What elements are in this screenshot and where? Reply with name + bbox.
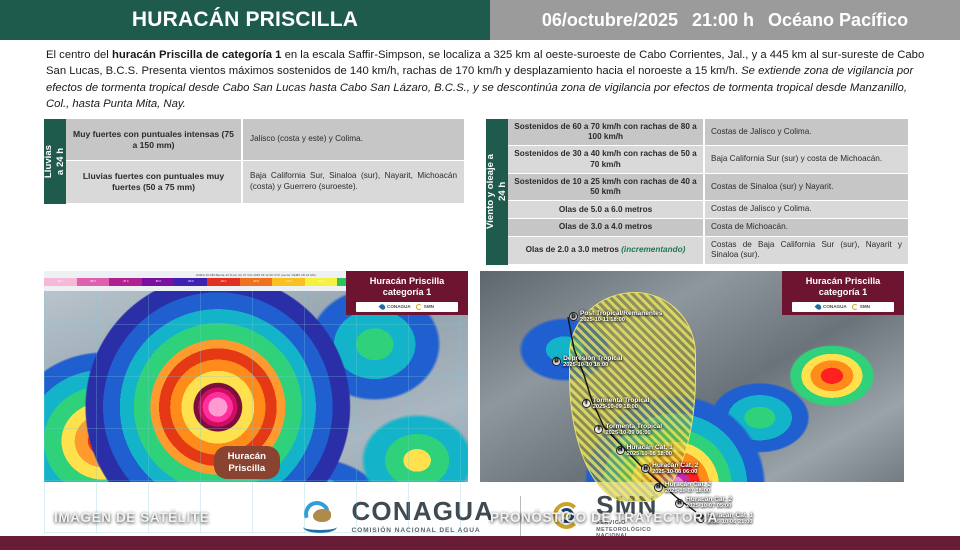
table-row: Olas de 5.0 a 6.0 metros Costas de Jalis… bbox=[508, 201, 908, 219]
water-drop-icon bbox=[379, 303, 387, 311]
badge-logos: CONAGUA SMN bbox=[356, 302, 458, 312]
rain-areas: Jalisco (costa y este) y Colima. bbox=[242, 119, 464, 161]
wave-areas: Costa de Michoacán. bbox=[704, 219, 908, 237]
trajectory-point-label: TTormenta Tropical2025-10-09 18:00 bbox=[582, 397, 650, 410]
trajectory-point-text: Depresión Tropical2025-10-10 18:00 bbox=[563, 355, 622, 368]
wave-condition-note: (incrementando) bbox=[621, 245, 685, 254]
table-row: Muy fuertes con puntuales intensas (75 a… bbox=[66, 119, 464, 161]
badge-line2: categoría 1 bbox=[792, 287, 894, 298]
rain-side-text: Lluvias a 24 h bbox=[43, 145, 67, 178]
table-row: Lluvias fuertes con puntuales muy fuerte… bbox=[66, 161, 464, 203]
satellite-caption: IMAGEN DE SATÉLITE bbox=[54, 510, 209, 525]
wind-areas: Baja California Sur (sur) y costa de Mic… bbox=[704, 146, 908, 174]
smn-mini-logo: SMN bbox=[852, 304, 870, 310]
storm-category-marker-icon: H bbox=[654, 483, 663, 492]
trajectory-point-text: Tormenta Tropical2025-10-09 06:00 bbox=[605, 423, 662, 436]
storm-category-marker-icon: T bbox=[582, 399, 591, 408]
trajectory-point-label: HHuracán Cat. 12025-10-08 18:00 bbox=[616, 444, 673, 457]
callout-line1: Huracán bbox=[228, 451, 266, 462]
table-row: Sostenidos de 10 a 25 km/h con rachas de… bbox=[508, 173, 908, 201]
colorbar-tick: -10 C bbox=[305, 278, 338, 286]
rain-areas: Baja California Sur, Sinaloa (sur), Naya… bbox=[242, 161, 464, 203]
badge-logos: CONAGUA SMN bbox=[792, 302, 894, 312]
wind-condition: Sostenidos de 30 a 40 km/h con rachas de… bbox=[508, 146, 704, 174]
colorbar-tick: -70 C bbox=[109, 278, 142, 286]
colorbar-tick: -20 C bbox=[272, 278, 305, 286]
wave-condition: Olas de 3.0 a 4.0 metros bbox=[508, 219, 704, 237]
bulletin-page: HURACÁN PRISCILLA 06/octubre/2025 21:00 … bbox=[0, 0, 960, 550]
storm-category-marker-icon: H bbox=[616, 446, 625, 455]
wind-condition: Sostenidos de 10 a 25 km/h con rachas de… bbox=[508, 173, 704, 201]
trajectory-point-text: Huracán Cat. 22025-10-07 05:00 bbox=[686, 496, 732, 509]
colorbar-tick: -80 C bbox=[77, 278, 110, 286]
table-row: Olas de 3.0 a 4.0 metros Costa de Michoa… bbox=[508, 219, 908, 237]
wave-condition: Olas de 2.0 a 3.0 metros (incrementando) bbox=[508, 236, 704, 264]
header-meta: 06/octubre/2025 21:00 h Océano Pacífico bbox=[490, 0, 960, 40]
page-title: HURACÁN PRISCILLA bbox=[0, 0, 490, 40]
colorbar-tick: -40 C bbox=[207, 278, 240, 286]
rain-table-wrap: Lluvias a 24 h Muy fuertes con puntuales… bbox=[44, 119, 464, 204]
storm-category-marker-icon: H bbox=[675, 499, 684, 508]
wind-table: Sostenidos de 60 a 70 km/h con rachas de… bbox=[508, 119, 908, 265]
image-panels: Huracán Priscilla GOES-19 ABI Banda 13 T… bbox=[0, 271, 960, 533]
bulletin-date: 06/octubre/2025 bbox=[542, 10, 678, 31]
trajectory-point-label: DDepresión Tropical2025-10-10 18:00 bbox=[552, 355, 622, 368]
rain-condition: Muy fuertes con puntuales intensas (75 a… bbox=[66, 119, 242, 161]
conagua-mini-logo: CONAGUA bbox=[816, 304, 847, 310]
map-grid bbox=[44, 291, 468, 533]
badge-line1: Huracán Priscilla bbox=[792, 276, 894, 287]
smn-mini-logo: SMN bbox=[416, 304, 434, 310]
badge-line1: Huracán Priscilla bbox=[356, 276, 458, 287]
wave-condition-text: Olas de 2.0 a 3.0 metros bbox=[526, 245, 619, 254]
trajectory-point-label: TTormenta Tropical2025-10-09 06:00 bbox=[594, 423, 662, 436]
trajectory-badge: Huracán Priscilla categoría 1 CONAGUA SM… bbox=[782, 271, 904, 315]
storm-category-marker-icon: T bbox=[594, 425, 603, 434]
colorbar-tick: -30 C bbox=[240, 278, 273, 286]
colorbar-tick: -90 C bbox=[44, 278, 77, 286]
rain-condition: Lluvias fuertes con puntuales muy fuerte… bbox=[66, 161, 242, 203]
bulletin-basin: Océano Pacífico bbox=[768, 10, 908, 31]
trajectory-point-label: HHuracán Cat. 22025-10-08 06:00 bbox=[641, 462, 698, 475]
wind-areas: Costas de Sinaloa (sur) y Nayarit. bbox=[704, 173, 908, 201]
trajectory-point-label: DPost Tropical/Remanentes2025-10-11 18:0… bbox=[569, 310, 662, 323]
colorbar-tick: -60 C bbox=[142, 278, 175, 286]
badge-line2: categoría 1 bbox=[356, 287, 458, 298]
storm-category-marker-icon: H bbox=[641, 464, 650, 473]
spiral-icon bbox=[416, 304, 422, 310]
summary-paragraph: El centro del huracán Priscilla de categ… bbox=[0, 40, 960, 117]
wind-table-side-label: Viento y oleaje a 24 h bbox=[486, 119, 508, 265]
table-row: Sostenidos de 60 a 70 km/h con rachas de… bbox=[508, 119, 908, 146]
wave-condition: Olas de 5.0 a 6.0 metros bbox=[508, 201, 704, 219]
trajectory-point-text: Huracán Cat. 22025-10-08 06:00 bbox=[652, 462, 698, 475]
storm-category-marker-icon: D bbox=[569, 312, 578, 321]
trajectory-point-text: Huracán Cat. 22025-10-07 18:00 bbox=[665, 481, 711, 494]
wave-areas: Costas de Jalisco y Colima. bbox=[704, 201, 908, 219]
trajectory-point-text: Post Tropical/Remanentes2025-10-11 18:00 bbox=[580, 310, 662, 323]
hazard-tables: Lluvias a 24 h Muy fuertes con puntuales… bbox=[0, 117, 960, 271]
rain-table: Muy fuertes con puntuales intensas (75 a… bbox=[66, 119, 464, 204]
trajectory-point-text: Tormenta Tropical2025-10-09 18:00 bbox=[593, 397, 650, 410]
summary-bold-category: huracán Priscilla de categoría 1 bbox=[112, 49, 282, 61]
satellite-imagery: Huracán Priscilla bbox=[44, 291, 468, 533]
spiral-icon bbox=[852, 304, 858, 310]
wave-areas: Costas de Baja California Sur (sur), Nay… bbox=[704, 236, 908, 264]
conagua-mini-logo: CONAGUA bbox=[380, 304, 411, 310]
table-row: Sostenidos de 30 a 40 km/h con rachas de… bbox=[508, 146, 908, 174]
trajectory-panel[interactable]: DPost Tropical/Remanentes2025-10-11 18:0… bbox=[480, 271, 904, 533]
satellite-panel[interactable]: Huracán Priscilla GOES-19 ABI Banda 13 T… bbox=[44, 271, 468, 533]
trajectory-point-text: Huracán Cat. 12025-10-08 18:00 bbox=[627, 444, 673, 457]
header-bar: HURACÁN PRISCILLA 06/octubre/2025 21:00 … bbox=[0, 0, 960, 40]
table-row: Olas de 2.0 a 3.0 metros (incrementando)… bbox=[508, 236, 908, 264]
wind-side-text: Viento y oleaje a 24 h bbox=[485, 154, 509, 229]
trajectory-point-label: HHuracán Cat. 22025-10-07 05:00 bbox=[675, 496, 732, 509]
satellite-storm-callout: Huracán Priscilla bbox=[214, 446, 280, 479]
bulletin-time: 21:00 h bbox=[692, 10, 754, 31]
bottom-accent-strip bbox=[0, 536, 960, 550]
callout-line2: Priscilla bbox=[228, 463, 265, 474]
storm-category-marker-icon: D bbox=[552, 357, 561, 366]
summary-part1: El centro del bbox=[46, 49, 112, 61]
wind-table-wrap: Viento y oleaje a 24 h Sostenidos de 60 … bbox=[486, 119, 908, 265]
trajectory-caption: PRONÓSTICO DE TRAYECTORIA bbox=[490, 510, 718, 525]
wind-condition: Sostenidos de 60 a 70 km/h con rachas de… bbox=[508, 119, 704, 146]
trajectory-point-label: HHuracán Cat. 22025-10-07 18:00 bbox=[654, 481, 711, 494]
colorbar-tick: -50 C bbox=[174, 278, 207, 286]
satellite-badge: Huracán Priscilla categoría 1 CONAGUA SM… bbox=[346, 271, 468, 315]
water-drop-icon bbox=[815, 303, 823, 311]
wind-areas: Costas de Jalisco y Colima. bbox=[704, 119, 908, 146]
rain-table-side-label: Lluvias a 24 h bbox=[44, 119, 66, 204]
